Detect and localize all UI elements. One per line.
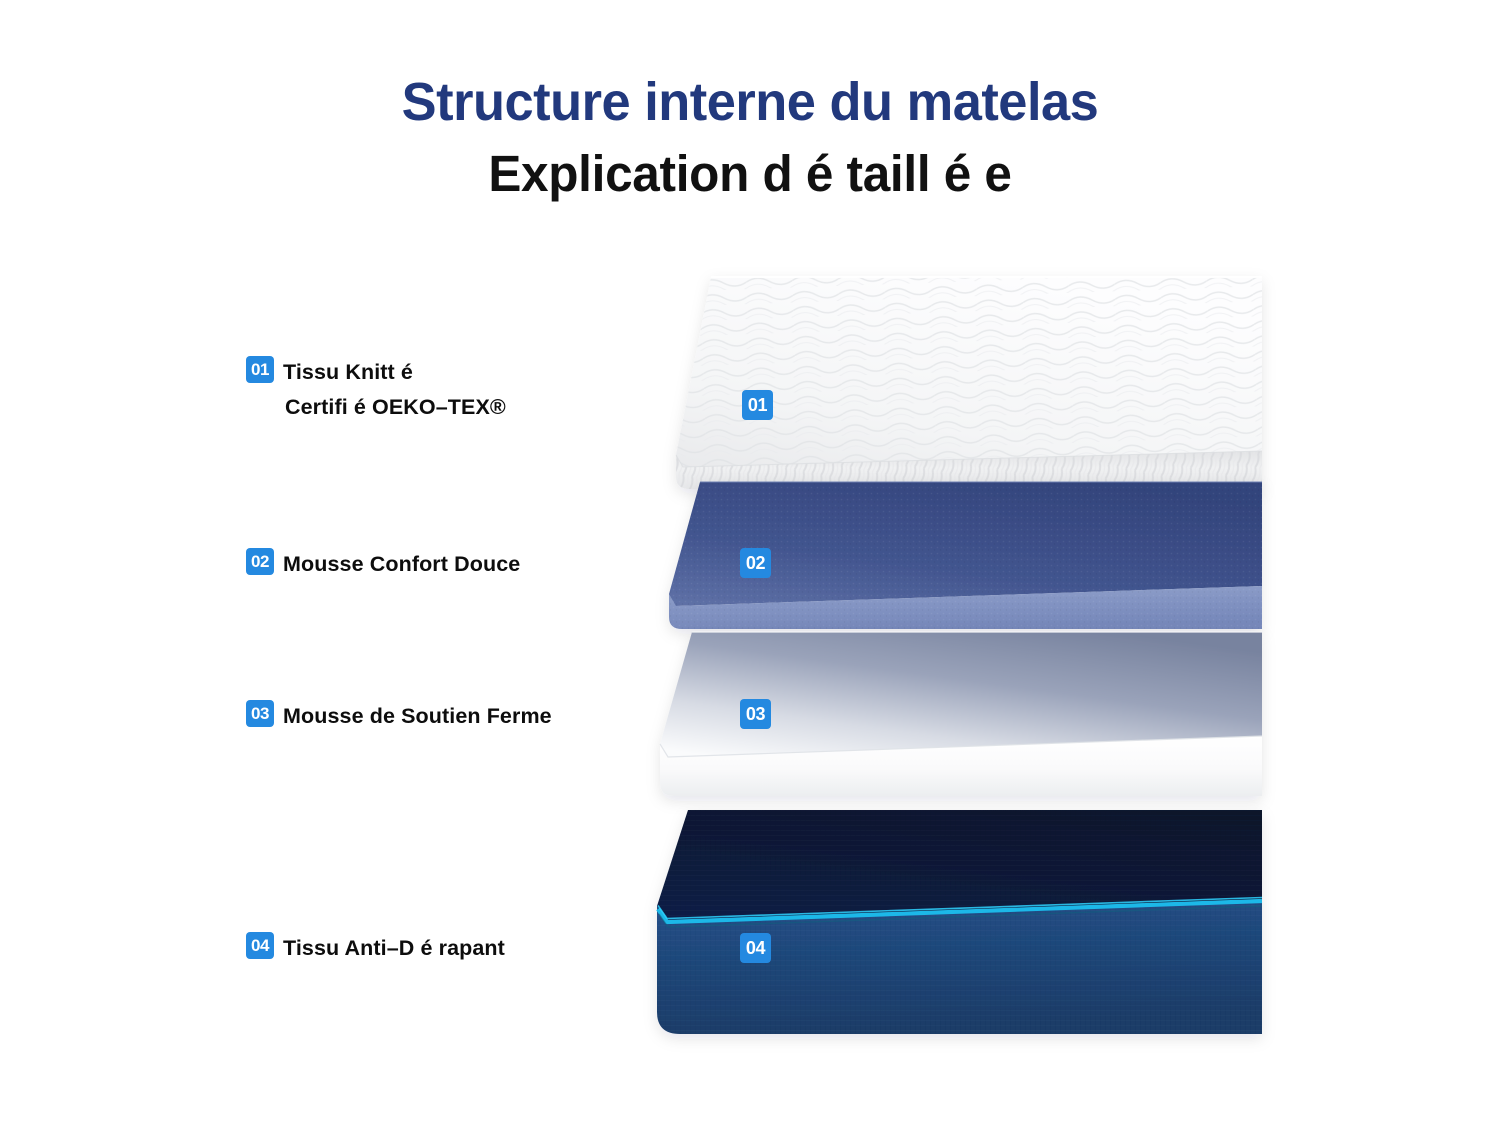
legend-badge-03: 03 bbox=[246, 700, 274, 727]
page-title: Structure interne du matelas bbox=[23, 72, 1478, 132]
layer-badge-01: 01 bbox=[742, 390, 773, 420]
legend-label-03: Mousse de Soutien Ferme bbox=[283, 699, 552, 734]
layer-badge-03: 03 bbox=[740, 699, 771, 729]
legend-label-03-line1: Mousse de Soutien Ferme bbox=[283, 699, 552, 734]
legend-label-02-line1: Mousse Confort Douce bbox=[283, 547, 520, 582]
legend-item-04: 04 Tissu Anti–D é rapant bbox=[246, 932, 505, 966]
legend-item-02: 02 Mousse Confort Douce bbox=[246, 548, 520, 582]
layer-badge-02: 02 bbox=[740, 548, 771, 578]
legend-item-01: 01 Tissu Knitt é Certifi é OEKO–TEX® bbox=[246, 356, 506, 425]
legend-badge-02: 02 bbox=[246, 548, 274, 575]
legend-badge-04: 04 bbox=[246, 932, 274, 959]
layer-03-shape bbox=[660, 632, 1262, 796]
legend-label-01-line2: Certifi é OEKO–TEX® bbox=[283, 390, 506, 425]
legend-label-01-line1: Tissu Knitt é bbox=[283, 355, 506, 390]
legend-item-03: 03 Mousse de Soutien Ferme bbox=[246, 700, 552, 734]
cyan-piping-stripe bbox=[658, 901, 1262, 922]
heading-block: Structure interne du matelas Explication… bbox=[0, 72, 1500, 205]
legend-label-04-line1: Tissu Anti–D é rapant bbox=[283, 931, 505, 966]
legend-badge-01: 01 bbox=[246, 356, 274, 383]
layer-04-shape bbox=[657, 810, 1262, 1034]
infographic-canvas: Structure interne du matelas Explication… bbox=[0, 0, 1500, 1125]
page-subtitle: Explication d é taill é e bbox=[23, 144, 1478, 204]
layer-02-shape bbox=[669, 482, 1262, 629]
layer-badge-04: 04 bbox=[740, 933, 771, 963]
layer-01-shape bbox=[676, 277, 1262, 489]
legend-label-04: Tissu Anti–D é rapant bbox=[283, 931, 505, 966]
legend-label-02: Mousse Confort Douce bbox=[283, 547, 520, 582]
legend-label-01: Tissu Knitt é Certifi é OEKO–TEX® bbox=[283, 355, 506, 425]
